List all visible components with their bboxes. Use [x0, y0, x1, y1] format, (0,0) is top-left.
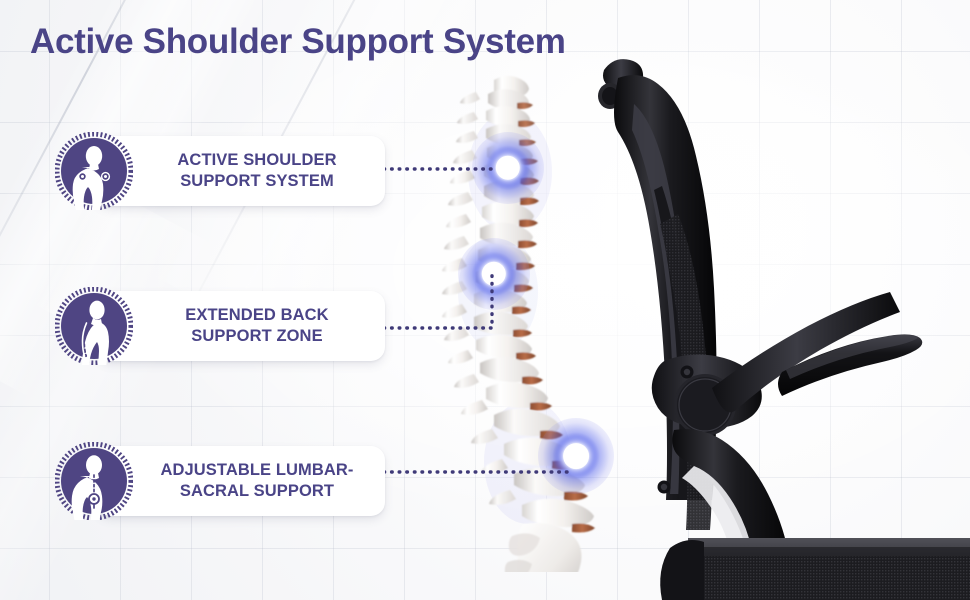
page-title: Active Shoulder Support System: [30, 22, 566, 62]
feature-card[interactable]: EXTENDED BACK SUPPORT ZONE: [97, 291, 385, 361]
side-profile-spine-icon: [55, 287, 133, 365]
back-torso-lumbar-icon: [55, 442, 133, 520]
feature-card[interactable]: ADJUSTABLE LUMBAR- SACRAL SUPPORT: [97, 446, 385, 516]
feature-item-adjustable-lumbar-sacral-support[interactable]: ADJUSTABLE LUMBAR- SACRAL SUPPORT: [55, 443, 385, 519]
feature-label: ADJUSTABLE LUMBAR- SACRAL SUPPORT: [118, 460, 363, 502]
front-torso-shoulders-icon: [55, 132, 133, 210]
feature-label: EXTENDED BACK SUPPORT ZONE: [143, 305, 338, 347]
feature-item-extended-back-support-zone[interactable]: EXTENDED BACK SUPPORT ZONE: [55, 288, 385, 364]
product-infographic: Active Shoulder Support System: [0, 0, 970, 600]
feature-label: ACTIVE SHOULDER SUPPORT SYSTEM: [135, 150, 346, 192]
feature-card[interactable]: ACTIVE SHOULDER SUPPORT SYSTEM: [97, 136, 385, 206]
ergonomic-office-chair: [570, 0, 970, 600]
feature-item-active-shoulder-support-system[interactable]: ACTIVE SHOULDER SUPPORT SYSTEM: [55, 133, 385, 209]
